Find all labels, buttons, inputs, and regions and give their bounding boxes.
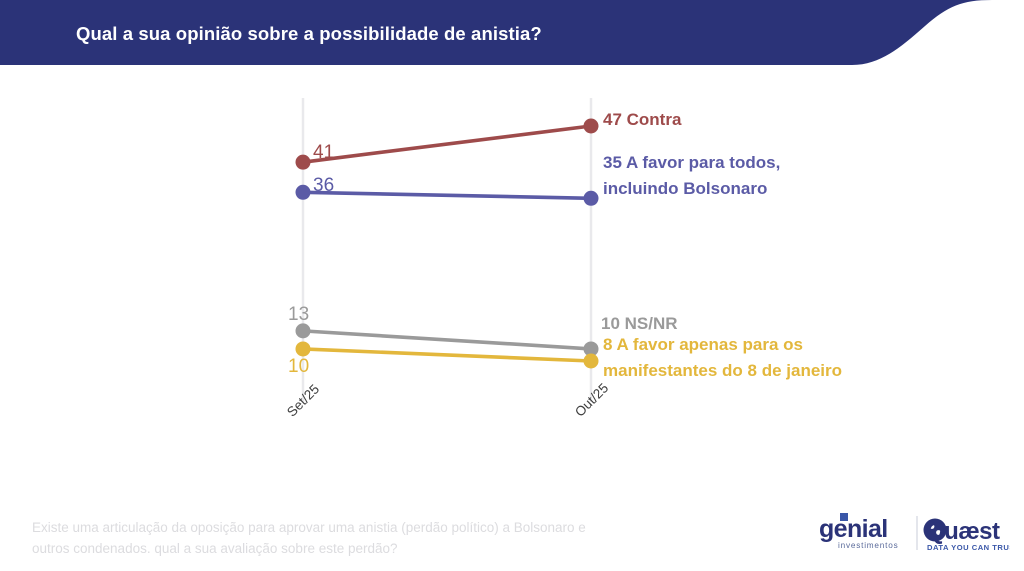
footer-question-note: Existe uma articulação da oposição para … [32,518,712,560]
series-label-afavor-manif-line2: manifestantes do 8 de janeiro [603,358,842,384]
genial-logo: genial investimentos [819,513,898,550]
value-label-contra-set25: 41 [313,142,334,164]
header-banner: Qual a sua opinião sobre a possibilidade… [0,0,1024,80]
value-label-afavor-manif-set25: 10 [288,356,309,378]
chart-plot-area: 41 36 13 10 47 Contra 35 A favor para to… [0,80,1024,480]
data-point-afavor-manif-out25 [584,354,599,369]
logo-bar-svg: genial investimentos Quæst DATA YOU CAN … [818,510,1010,560]
footer-note-line1: Existe uma articulação da oposição para … [32,518,712,539]
data-point-afavor-manif-set25 [296,341,311,356]
quaest-tagline: DATA YOU CAN TRUST [927,543,1010,552]
data-point-afavor-todos-set25 [296,185,311,200]
series-label-afavor-manif: 8 A favor apenas para os manifestantes d… [603,332,842,385]
chart-lines-svg [0,80,1024,480]
data-point-afavor-todos-out25 [584,191,599,206]
data-point-contra-set25 [296,155,311,170]
page-title: Qual a sua opinião sobre a possibilidade… [76,23,542,45]
quaest-logo: Quæst DATA YOU CAN TRUST [924,518,1011,552]
series-label-contra: 47 Contra [603,107,681,133]
genial-tagline: investimentos [838,541,898,550]
value-label-nsnr-set25: 13 [288,304,309,326]
genial-wordmark: genial [819,515,888,543]
series-label-afavor-todos-line1: 35 A favor para todos, [603,150,780,176]
footer-note-line2: outros condenados. qual a sua avaliação … [32,539,712,560]
series-label-contra-line1: 47 Contra [603,107,681,133]
quaest-wordmark: Quæst [926,518,1000,545]
logo-bar: genial investimentos Quæst DATA YOU CAN … [818,510,1010,560]
series-label-afavor-manif-line1: 8 A favor apenas para os [603,332,842,358]
series-label-afavor-todos-line2: incluindo Bolsonaro [603,176,780,202]
value-label-afavor-todos-set25: 36 [313,175,334,197]
series-label-afavor-todos: 35 A favor para todos, incluindo Bolsona… [603,150,780,203]
slide-canvas: Qual a sua opinião sobre a possibilidade… [0,0,1024,571]
data-point-contra-out25 [584,119,599,134]
series-afavor-todos [296,185,599,206]
series-contra [296,119,599,170]
